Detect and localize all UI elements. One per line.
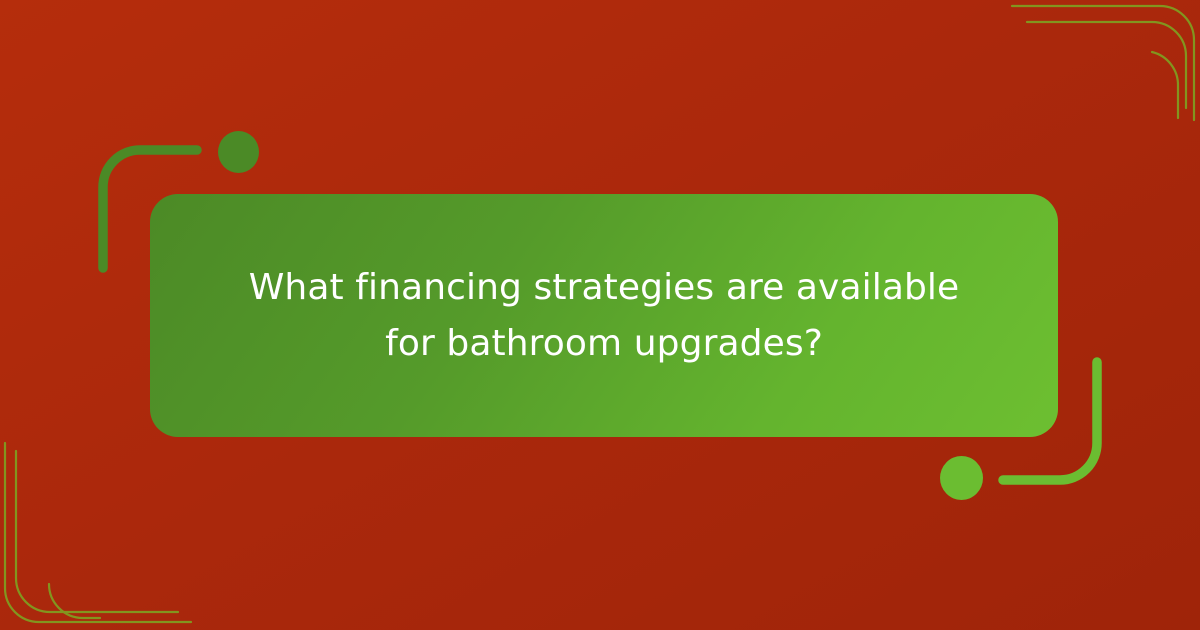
dot-decoration-top-left [218, 131, 259, 173]
corner-line-bottom-left-middle [16, 451, 178, 612]
corner-line-top-right-outer [1012, 6, 1194, 120]
corner-line-bottom-left-inner [49, 584, 100, 618]
dot-decoration-bottom-right [940, 456, 983, 500]
corner-line-top-right-middle [1027, 22, 1186, 108]
corner-line-top-right-inner [1152, 52, 1178, 118]
corner-line-bottom-left-outer [5, 443, 191, 622]
social-card-canvas: What financing strategies are available … [0, 0, 1200, 630]
quote-text: What financing strategies are available … [234, 260, 974, 372]
quote-card: What financing strategies are available … [150, 194, 1058, 437]
